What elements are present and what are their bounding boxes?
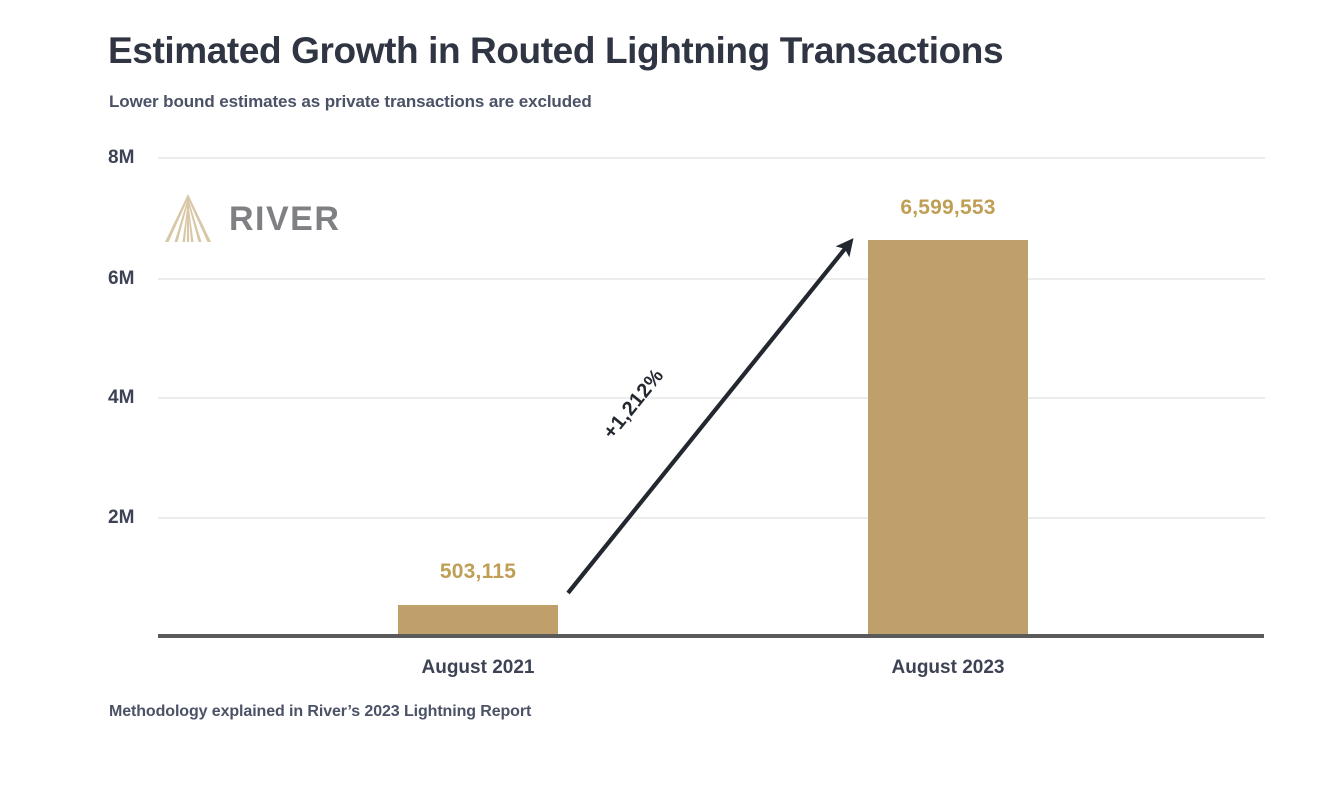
methodology-footnote: Methodology explained in River’s 2023 Li…	[109, 703, 531, 721]
x-axis-baseline	[158, 634, 1264, 638]
x-axis-label-august-2021: August 2021	[378, 657, 578, 679]
x-axis-label-august-2023: August 2023	[848, 657, 1048, 679]
chart-page: Estimated Growth in Routed Lightning Tra…	[0, 0, 1332, 790]
bar-august-2021[interactable]	[398, 605, 558, 636]
y-axis-tick-2m: 2M	[108, 507, 150, 529]
bar-value-august-2021: 503,115	[398, 560, 558, 584]
gridline-8m	[158, 157, 1265, 159]
river-logo: RIVER	[163, 192, 340, 246]
bar-value-august-2023: 6,599,553	[868, 196, 1028, 220]
y-axis-tick-8m: 8M	[108, 147, 150, 169]
growth-percentage-label: +1,212%	[599, 365, 669, 444]
growth-arrow	[0, 0, 1332, 790]
y-axis-tick-4m: 4M	[108, 387, 150, 409]
gridline-6m	[158, 278, 1265, 280]
y-axis-tick-6m: 6M	[108, 268, 150, 290]
bar-august-2023[interactable]	[868, 240, 1028, 636]
gridline-2m	[158, 517, 1265, 519]
river-logo-text: RIVER	[229, 202, 340, 236]
river-delta-icon	[163, 192, 213, 246]
gridline-4m	[158, 397, 1265, 399]
plot-area: 8M 6M 4M 2M 503,115 6,599,553 August 202…	[0, 0, 1332, 790]
